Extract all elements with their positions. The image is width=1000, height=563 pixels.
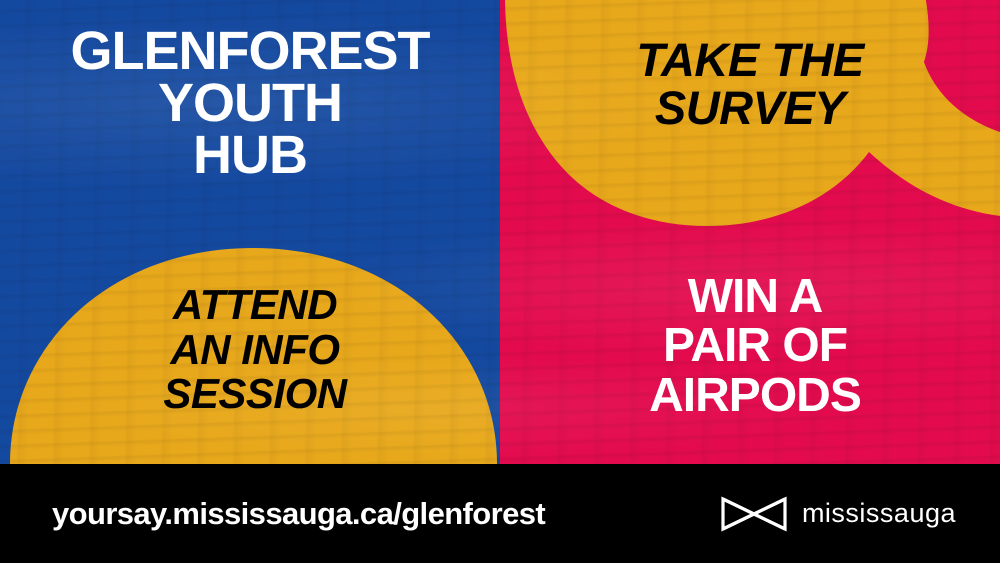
cta-attend-an-info-session[interactable]: ATTEND AN INFO SESSION	[70, 283, 440, 417]
cta-take-the-survey[interactable]: TAKE THE SURVEY	[560, 36, 940, 132]
mississauga-m-icon	[720, 493, 788, 535]
footer-bar: yoursay.mississauga.ca/glenforest missis…	[0, 464, 1000, 563]
promotional-poster: GLENFOREST YOUTH HUB TAKE THE SURVEY ATT…	[0, 0, 1000, 563]
brand-lockup: mississauga	[720, 493, 956, 535]
brand-wordmark: mississauga	[802, 498, 956, 529]
page-title: GLENFOREST YOUTH HUB	[20, 26, 480, 181]
cta-win-a-pair-of-airpods: WIN A PAIR OF AIRPODS	[560, 272, 950, 420]
footer-url-link[interactable]: yoursay.mississauga.ca/glenforest	[52, 496, 545, 532]
